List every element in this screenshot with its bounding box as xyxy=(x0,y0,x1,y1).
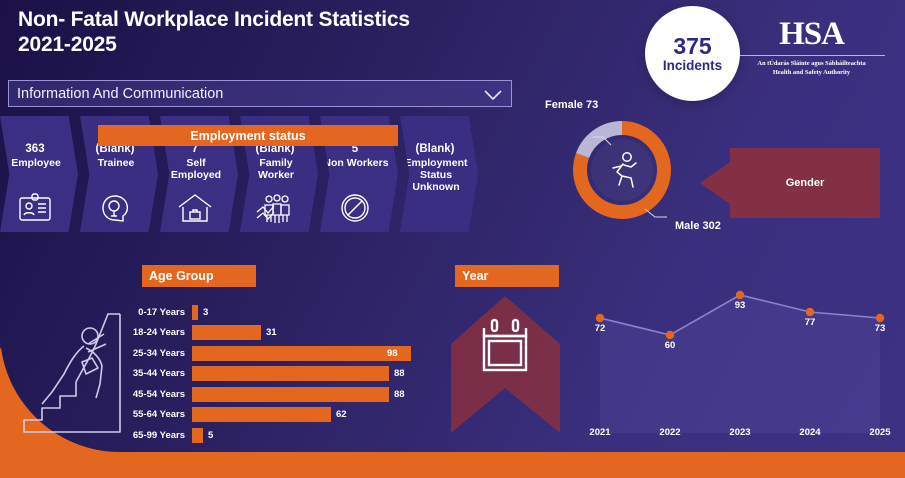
kpi-card-incidents: 375 Incidents xyxy=(645,6,740,101)
employment-item-label: Trainee xyxy=(80,157,152,169)
year-data-point xyxy=(666,331,674,339)
employment-item-label: Non Workers xyxy=(320,157,392,169)
hsa-logo-tagline-irish: An tÚdarás Sláinte agus Sábháilteachta xyxy=(734,59,889,68)
age-bar-category: 0-17 Years xyxy=(128,307,192,318)
year-data-label: 93 xyxy=(735,300,746,311)
year-data-point xyxy=(876,314,884,322)
year-area-fill xyxy=(600,295,880,433)
donut-center xyxy=(591,139,653,201)
age-bar-category: 65-99 Years xyxy=(128,430,192,441)
year-axis-label[interactable]: 2024 xyxy=(799,427,820,438)
year-title: Year xyxy=(455,265,559,287)
age-bar-fill xyxy=(192,387,389,402)
page-title: Non- Fatal Workplace Incident Statistics… xyxy=(18,8,538,58)
dashboard-root: Non- Fatal Workplace Incident Statistics… xyxy=(0,0,905,478)
page-title-line1: Non- Fatal Workplace Incident Statistics xyxy=(18,8,538,33)
age-bar-category: 35-44 Years xyxy=(128,368,192,379)
kpi-label: Incidents xyxy=(663,58,722,73)
age-bar-value: 3 xyxy=(203,307,208,318)
year-line-svg xyxy=(570,265,900,440)
year-data-point xyxy=(596,314,604,322)
hsa-logo: HSA An tÚdarás Sláinte agus Sábháilteach… xyxy=(734,18,889,78)
head-idea-icon xyxy=(80,192,150,224)
year-data-label: 73 xyxy=(875,323,886,334)
age-bar-row[interactable]: 18-24 Years 31 xyxy=(128,323,448,344)
employment-item-count: 363 xyxy=(0,143,70,155)
kpi-value: 375 xyxy=(673,34,711,58)
gender-donut-chart: Female 73 Male 302 xyxy=(545,105,725,235)
year-data-label: 72 xyxy=(595,323,606,334)
hsa-logo-mark: HSA xyxy=(734,18,889,51)
age-bar-category: 55-64 Years xyxy=(128,409,192,420)
age-bar-value: 98 xyxy=(387,348,398,359)
age-bar-fill xyxy=(192,305,198,320)
year-data-point xyxy=(736,291,744,299)
age-bar-category: 18-24 Years xyxy=(128,327,192,338)
family-group-icon xyxy=(240,192,310,224)
year-data-label: 77 xyxy=(805,317,816,328)
climbing-person-icon xyxy=(12,300,132,450)
age-bar-row[interactable]: 25-34 Years 98 xyxy=(128,343,448,364)
sector-slicer-dropdown[interactable]: Information And Communication xyxy=(8,80,512,107)
age-bar-row[interactable]: 55-64 Years 62 xyxy=(128,405,448,426)
age-group-bar-chart: 0-17 Years 3 18-24 Years 31 25-34 Years … xyxy=(128,302,448,447)
employment-item-employee[interactable]: 363 Employee xyxy=(0,116,78,232)
gender-donut-svg xyxy=(545,105,725,235)
age-bar-row[interactable]: 0-17 Years 3 xyxy=(128,302,448,323)
background-orange-strip xyxy=(0,456,905,478)
year-line-chart: 72 60 93 77 73 2021 2022 2023 2024 2025 xyxy=(570,265,900,440)
age-bar-value: 62 xyxy=(336,409,347,420)
age-bar-category: 25-34 Years xyxy=(128,348,192,359)
no-entry-icon xyxy=(320,192,390,224)
hsa-logo-divider xyxy=(738,55,885,56)
age-bar-value: 31 xyxy=(266,327,277,338)
page-title-line2: 2021-2025 xyxy=(18,33,538,58)
age-bar-category: 45-54 Years xyxy=(128,389,192,400)
age-bar-fill xyxy=(192,366,389,381)
year-axis-label[interactable]: 2023 xyxy=(729,427,750,438)
hsa-logo-tagline-english: Health and Safety Authority xyxy=(734,68,889,77)
year-axis-label[interactable]: 2025 xyxy=(869,427,890,438)
age-bar-fill xyxy=(192,428,203,443)
donut-label-female: Female 73 xyxy=(545,99,598,111)
employment-status-panel: 363 Employee (Blank) Trainee xyxy=(0,116,520,236)
year-banner-svg xyxy=(448,292,563,437)
id-card-icon xyxy=(0,192,70,224)
chevron-down-icon[interactable] xyxy=(483,88,503,100)
employment-item-label: Employee xyxy=(0,157,72,169)
age-bar-value: 88 xyxy=(394,389,405,400)
year-axis-label[interactable]: 2021 xyxy=(589,427,610,438)
age-bar-fill xyxy=(192,346,411,361)
gender-filter-label: Gender xyxy=(786,177,825,189)
employment-item-label: Employment Status Unknown xyxy=(400,157,472,193)
year-axis-label[interactable]: 2022 xyxy=(659,427,680,438)
age-bar-fill xyxy=(192,325,261,340)
year-banner xyxy=(448,292,563,437)
age-bar-fill xyxy=(192,407,331,422)
employment-item-label: Family Worker xyxy=(240,157,312,181)
age-bar-value: 88 xyxy=(394,368,405,379)
year-data-point xyxy=(806,308,814,316)
employment-item-count: (Blank) xyxy=(400,143,470,155)
gender-filter-arrow[interactable]: Gender xyxy=(700,148,880,218)
year-data-label: 60 xyxy=(665,340,676,351)
age-bar-row[interactable]: 65-99 Years 5 xyxy=(128,425,448,446)
employment-item-label: Self Employed xyxy=(160,157,232,181)
employment-status-title: Employment status xyxy=(98,125,398,146)
age-bar-row[interactable]: 35-44 Years 88 xyxy=(128,364,448,385)
sector-slicer-value: Information And Communication xyxy=(17,86,223,102)
home-office-icon xyxy=(160,192,230,224)
age-group-title: Age Group xyxy=(142,265,256,287)
age-bar-value: 5 xyxy=(208,430,213,441)
donut-label-male: Male 302 xyxy=(675,220,721,232)
employment-item-status-unknown[interactable]: (Blank) Employment Status Unknown xyxy=(400,116,478,232)
age-bar-row[interactable]: 45-54 Years 88 xyxy=(128,384,448,405)
